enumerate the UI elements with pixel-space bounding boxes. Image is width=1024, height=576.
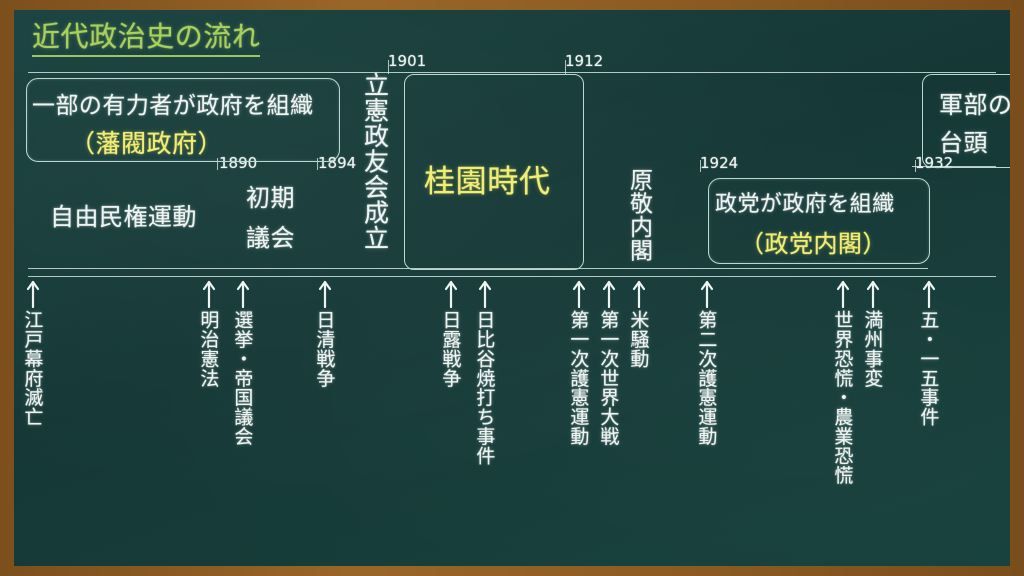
event-label: 米騒動 [628, 310, 647, 368]
event-arrow [236, 280, 250, 308]
chalkboard: 近代政治史の流れ 1890 1894 1901 1912 1924 1932 一… [14, 10, 1010, 566]
event-label: 日露戦争 [440, 310, 459, 388]
event-arrow [922, 280, 936, 308]
page-title: 近代政治史の流れ [32, 22, 260, 57]
military-rise-label-line2: 台頭 [939, 123, 988, 158]
event-arrow [836, 280, 850, 308]
event-label: 第一次世界大戦 [598, 310, 617, 446]
wooden-frame: 近代政治史の流れ 1890 1894 1901 1912 1924 1932 一… [0, 0, 1024, 576]
keien-era-label: 桂園時代 [424, 156, 550, 201]
hara-takashi-cabinet-label: 原敬内閣 [626, 168, 649, 262]
early-diet-label-line1: 初期 [246, 178, 295, 213]
event-label: 江戸幕府滅亡 [22, 310, 41, 426]
timeline-top-rule [28, 72, 996, 73]
event-arrow [632, 280, 646, 308]
event-label: 満州事変 [862, 310, 881, 388]
event-arrow [866, 280, 880, 308]
event-label: 日比谷焼打ち事件 [474, 310, 493, 465]
event-arrow [202, 280, 216, 308]
event-label: 選挙・帝国議会 [232, 310, 251, 446]
event-arrow [478, 280, 492, 308]
event-label: 世界恐慌・農業恐慌 [832, 310, 851, 484]
year-label-1924: 1924 [700, 154, 738, 172]
event-arrow [26, 280, 40, 308]
event-label: 第一次護憲運動 [568, 310, 587, 446]
event-label: 明治憲法 [198, 310, 217, 388]
party-cabinet-box-line2: （政党内閣） [740, 224, 887, 259]
event-label: 日清戦争 [314, 310, 333, 388]
party-cabinet-box-line1: 政党が政府を組織 [715, 186, 895, 218]
event-label: 第二次護憲運動 [696, 310, 715, 446]
year-label-1912: 1912 [565, 52, 603, 70]
year-label-1901: 1901 [388, 52, 426, 70]
freedom-civil-rights-movement-label: 自由民権運動 [50, 197, 197, 232]
hanbatsu-box-line1: 一部の有力者が政府を組織 [32, 86, 314, 120]
event-arrow [602, 280, 616, 308]
event-arrow [318, 280, 332, 308]
hanbatsu-box-line2: （藩閥政府） [70, 124, 223, 160]
early-diet-label-line2: 議会 [246, 218, 295, 253]
event-label: 五・一五事件 [918, 310, 937, 426]
event-arrow [444, 280, 458, 308]
event-arrow [700, 280, 714, 308]
rikken-seiyukai-founded-label: 立憲政友会成立 [362, 72, 388, 251]
event-arrow [572, 280, 586, 308]
timeline-bottom-rule [28, 276, 996, 277]
military-rise-label-line1: 軍部の [939, 85, 1010, 120]
